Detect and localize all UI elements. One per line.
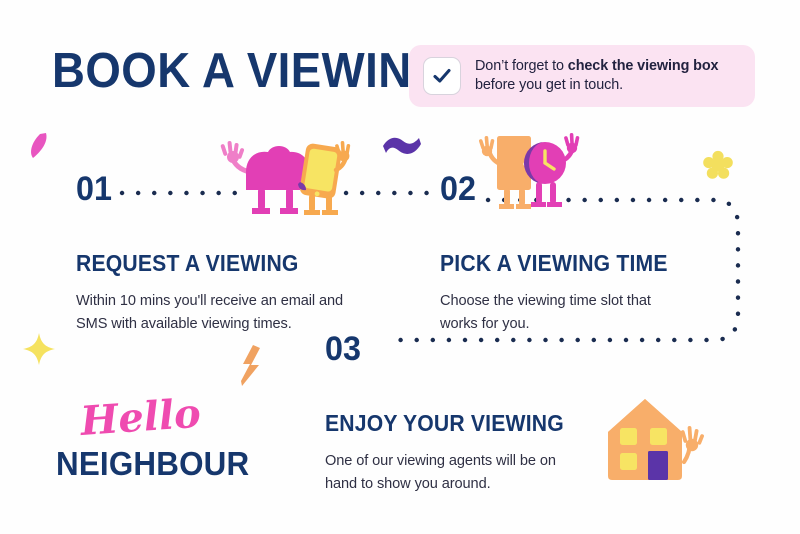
checkbox-checked-icon[interactable] bbox=[423, 57, 461, 95]
step-number: 01 bbox=[76, 172, 333, 206]
house-window-top-right bbox=[650, 428, 667, 445]
clock-right-hand bbox=[564, 133, 580, 153]
step-body: Within 10 mins you'll receive an email a… bbox=[76, 290, 346, 336]
step-heading: PICK A VIEWING TIME bbox=[440, 251, 670, 276]
step-01: 01 REQUEST A VIEWING Within 10 mins you'… bbox=[76, 172, 346, 336]
waving-hand-icon bbox=[680, 426, 704, 451]
page-title: BOOK A VIEWING bbox=[52, 45, 448, 97]
step-02: 02 PICK A VIEWING TIME Choose the viewin… bbox=[440, 172, 690, 336]
purple-swoosh-arrow bbox=[381, 132, 423, 164]
step-body: One of our viewing agents will be on han… bbox=[325, 450, 590, 496]
logo-block-word: NEIGHBOUR bbox=[56, 447, 249, 480]
callout-box: Don’t forget to check the viewing box be… bbox=[409, 45, 755, 107]
step-number: 03 bbox=[325, 332, 577, 366]
orange-lightning-bolt bbox=[240, 345, 262, 393]
house-window-top-left bbox=[620, 428, 637, 445]
house-door bbox=[648, 451, 668, 480]
callout-text-part1: Don’t forget to bbox=[475, 58, 568, 74]
logo-script-word: Hello bbox=[79, 390, 259, 442]
house-window-bottom-left bbox=[620, 453, 637, 470]
yellow-sparkle-star bbox=[22, 332, 56, 366]
yellow-flower bbox=[703, 150, 733, 180]
step-03: 03 ENJOY YOUR VIEWING One of our viewing… bbox=[325, 332, 590, 496]
infographic-canvas: BOOK A VIEWING Don’t forget to check the… bbox=[0, 0, 800, 534]
check-mark-icon bbox=[431, 65, 453, 87]
callout-text-part2: before you get in touch. bbox=[475, 77, 623, 93]
blob-left-hand bbox=[220, 141, 244, 163]
logo-hello-neighbour: Hello NEIGHBOUR bbox=[56, 402, 259, 480]
house-with-waving-hand bbox=[600, 394, 710, 486]
pink-brushstroke bbox=[26, 131, 54, 161]
step-heading: REQUEST A VIEWING bbox=[76, 251, 324, 276]
step-number: 02 bbox=[440, 172, 678, 206]
callout-text: Don’t forget to check the viewing box be… bbox=[475, 57, 741, 95]
callout-text-bold: check the viewing box bbox=[568, 58, 719, 74]
dotted-connector-line bbox=[344, 186, 436, 200]
step-body: Choose the viewing time slot that works … bbox=[440, 290, 690, 336]
step-heading: ENJOY YOUR VIEWING bbox=[325, 411, 569, 436]
